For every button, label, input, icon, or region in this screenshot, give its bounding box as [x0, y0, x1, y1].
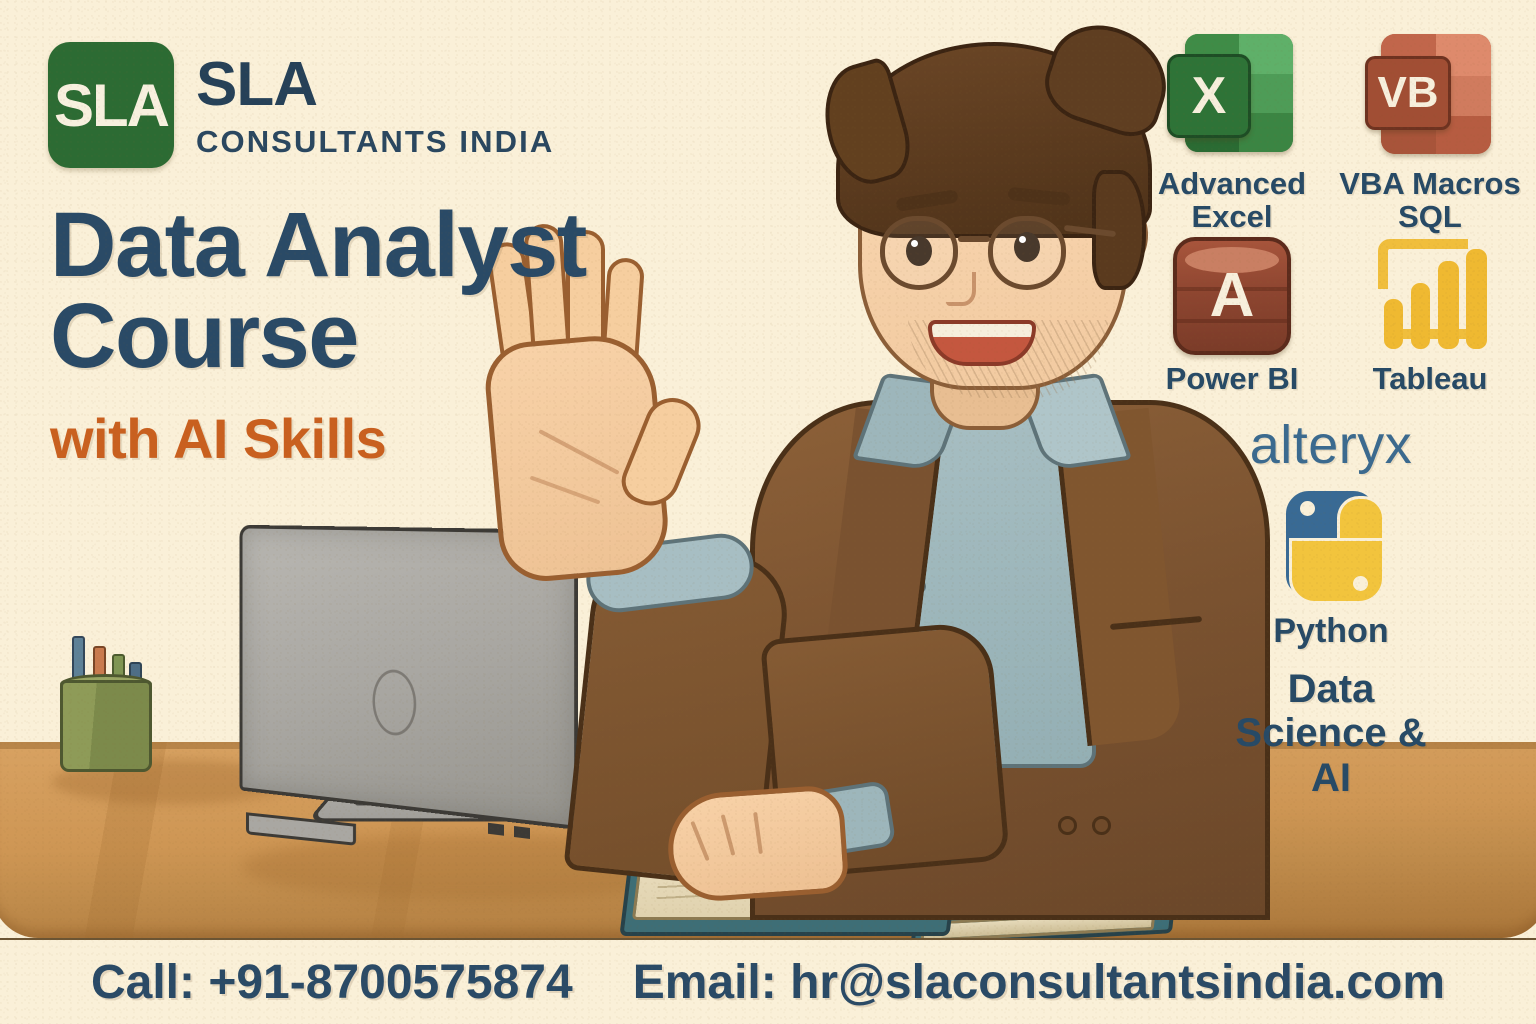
- tool-label-vba-macros-sql: VBA Macros SQL: [1339, 168, 1520, 233]
- chart-bar: [1384, 299, 1403, 349]
- chart-bar: [1411, 283, 1430, 349]
- tableau-bars-icon: [1368, 237, 1492, 355]
- jacket-cuff-button: [1092, 816, 1111, 835]
- ds-line-2: Science &: [1136, 711, 1526, 756]
- headline-block: Data Analyst Course with AI Skills: [50, 200, 586, 471]
- tool-label-line-1: VBA Macros: [1339, 168, 1520, 201]
- database-cylinder: A: [1173, 237, 1291, 355]
- chart-bar: [1466, 249, 1487, 349]
- tool-tableau[interactable]: Tableau: [1334, 237, 1526, 396]
- laptop-logo-icon: [373, 668, 417, 737]
- access-database-icon: A: [1173, 237, 1291, 355]
- tool-label-power-bi: Power BI: [1166, 363, 1299, 396]
- tool-advanced-excel[interactable]: X Advanced Excel: [1136, 30, 1328, 233]
- tool-label-line-1: Tableau: [1373, 363, 1488, 396]
- tool-label-line-1: Advanced: [1158, 168, 1306, 201]
- sla-logo-mark: SLA: [48, 42, 174, 168]
- excel-icon: X: [1167, 30, 1297, 160]
- laptop-ports: [488, 823, 540, 840]
- tool-vba-macros-sql[interactable]: VB VBA Macros SQL: [1334, 30, 1526, 233]
- headline-line-2: Course: [50, 291, 586, 382]
- ds-line-1: Data: [1136, 667, 1526, 712]
- technology-stack: X Advanced Excel VB V: [1136, 30, 1526, 801]
- excel-glyph: X: [1192, 70, 1227, 122]
- brand-name: SLA: [196, 54, 554, 116]
- jacket-cuff-button: [1058, 816, 1077, 835]
- alteryx-wordmark[interactable]: alteryx: [1136, 414, 1526, 476]
- contact-footer: Call: +91-8700575874 Email: hr@slaconsul…: [0, 938, 1536, 1024]
- brand-logo: SLA SLA CONSULTANTS INDIA: [48, 42, 554, 168]
- tool-label-line-2: Excel: [1158, 201, 1306, 234]
- nose: [946, 272, 976, 306]
- python-icon: [1267, 482, 1395, 610]
- vba-glyph: VB: [1377, 71, 1438, 115]
- data-science-ai-label: Data Science & AI: [1136, 667, 1526, 801]
- glasses-lens-right: [988, 216, 1066, 290]
- tool-label-tableau: Tableau: [1373, 363, 1488, 396]
- contact-email[interactable]: Email: hr@slaconsultantsindia.com: [633, 955, 1445, 1010]
- vba-icon: VB: [1365, 30, 1495, 160]
- tool-power-bi[interactable]: A Power BI: [1136, 237, 1328, 396]
- excel-badge: X: [1167, 54, 1251, 138]
- headline-subline: with AI Skills: [50, 406, 586, 471]
- promotional-banner: SLA SLA CONSULTANTS INDIA Data Analyst C…: [0, 0, 1536, 1024]
- tool-python[interactable]: Python: [1136, 482, 1526, 651]
- brand-subtitle: CONSULTANTS INDIA: [196, 126, 554, 157]
- tool-label-advanced-excel: Advanced Excel: [1158, 168, 1306, 233]
- ds-line-3: AI: [1136, 756, 1526, 801]
- tool-label-python: Python: [1273, 612, 1388, 651]
- chart-bar: [1438, 261, 1459, 349]
- python-snake-yellow: [1289, 538, 1385, 604]
- tool-label-line-2: SQL: [1339, 201, 1520, 234]
- tool-label-line-1: Power BI: [1166, 363, 1299, 396]
- vba-badge: VB: [1365, 56, 1451, 130]
- access-glyph: A: [1177, 241, 1287, 351]
- brand-text-block: SLA CONSULTANTS INDIA: [196, 54, 554, 157]
- glasses-bridge: [958, 236, 990, 242]
- headline-line-1: Data Analyst: [50, 200, 586, 291]
- logo-mark-text: SLA: [54, 71, 168, 140]
- tool-icon-grid: X Advanced Excel VB V: [1136, 30, 1526, 396]
- contact-phone[interactable]: Call: +91-8700575874: [91, 955, 573, 1010]
